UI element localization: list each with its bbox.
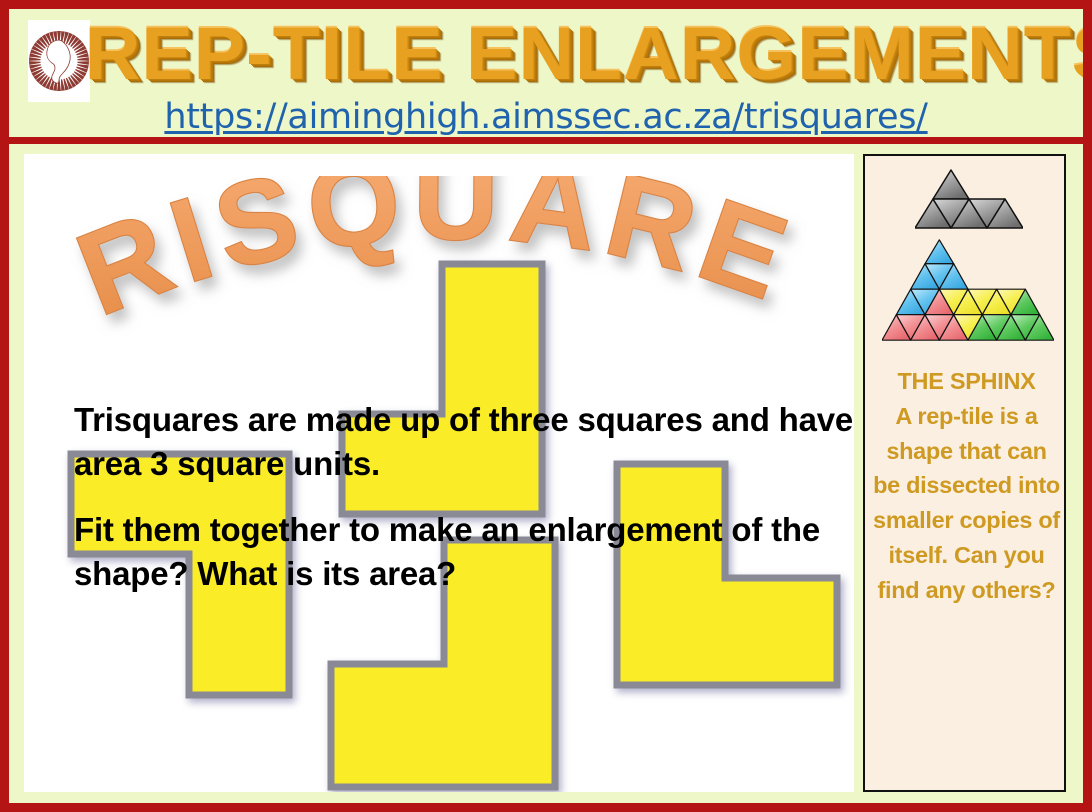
source-url-link[interactable]: https://aiminghigh.aimssec.ac.za/trisqua…	[9, 97, 1083, 137]
sphinx-small-grey-figure	[915, 168, 1023, 232]
body-area: TRISQUARES Trisquares are made up of thr…	[9, 144, 1083, 803]
instruction-paragraph-1: Trisquares are made up of three squares …	[74, 398, 854, 486]
illustration-canvas: TRISQUARES Trisquares are made up of thr…	[24, 154, 854, 792]
instruction-paragraph-2: Fit them together to make an enlargement…	[74, 508, 854, 596]
sphinx-sidebar: THE SPHINX A rep-tile is a shape that ca…	[863, 154, 1066, 792]
sphinx-caption-body: A rep-tile is a shape that can be dissec…	[871, 399, 1062, 608]
aimssec-africa-logo-icon	[28, 20, 90, 102]
header-band: REP-TILE ENLARGEMENTS https://aiminghigh…	[9, 9, 1083, 144]
sphinx-caption: THE SPHINX A rep-tile is a shape that ca…	[871, 364, 1062, 607]
sphinx-caption-heading: THE SPHINX	[871, 364, 1062, 399]
poster-root: REP-TILE ENLARGEMENTS https://aiminghigh…	[0, 0, 1092, 812]
page-title: REP-TILE ENLARGEMENTS	[85, 11, 1092, 97]
sphinx-large-coloured-figure	[882, 238, 1054, 342]
instruction-text: Trisquares are made up of three squares …	[74, 398, 854, 596]
